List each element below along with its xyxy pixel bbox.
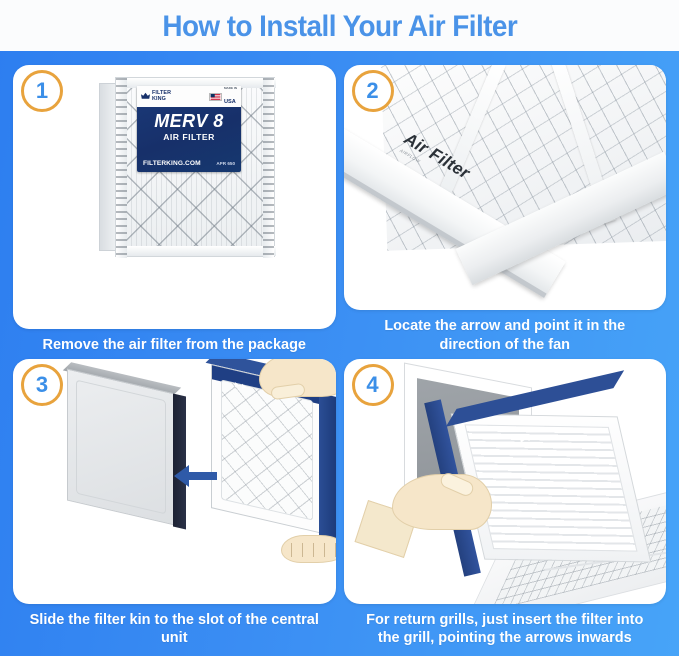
filter-navy-side-edge xyxy=(319,392,336,541)
filter-media-grid xyxy=(221,379,313,520)
step-4-illustration xyxy=(344,359,667,604)
made-in-label: MADE IN xyxy=(224,86,237,90)
infographic-root: How to Install Your Air Filter 1 xyxy=(0,0,679,656)
header-band: How to Install Your Air Filter xyxy=(0,0,679,51)
step-card-4: 4 xyxy=(344,359,667,651)
made-in-usa-text: MADE IN USA xyxy=(224,86,237,108)
brand-line-2: KING xyxy=(152,96,166,102)
insert-direction-arrow-icon xyxy=(173,463,217,489)
step-4-number-badge: 4 xyxy=(352,364,394,406)
step-3-illustration xyxy=(13,359,336,604)
label-footer-strip: FILTERKING.COM APR 650 xyxy=(137,160,241,167)
product-type: AIR FILTER xyxy=(137,132,241,142)
apr-rating-text: APR 650 xyxy=(216,161,235,166)
filter-king-logo: FILTER KING xyxy=(141,91,171,102)
filter-frame-right xyxy=(263,78,274,258)
brand-name: FILTER KING xyxy=(152,91,171,102)
merv-rating: MERV 8 xyxy=(137,112,241,130)
product-label: FILTER KING xyxy=(137,86,241,172)
central-unit-slot-outline xyxy=(76,379,166,514)
crown-icon xyxy=(141,92,150,101)
step-4-caption: For return grills, just insert the filte… xyxy=(344,604,667,650)
country-label: USA xyxy=(224,99,236,105)
steps-grid: 1 xyxy=(0,51,679,656)
step-3-number-badge: 3 xyxy=(21,364,63,406)
step-card-2: 2 Air Filter AIRFLOW xyxy=(344,65,667,357)
made-in-usa-badge: MADE IN USA xyxy=(209,86,237,108)
step-2-image-card: 2 Air Filter AIRFLOW xyxy=(344,65,667,310)
air-filter-product-photo: FILTER KING xyxy=(99,77,275,257)
central-unit-slot-opening xyxy=(173,393,186,529)
step-1-image-card: 1 xyxy=(13,65,336,329)
step-3-image-card: 3 xyxy=(13,359,336,604)
label-header-strip: FILTER KING xyxy=(137,86,241,107)
hand-lower-fingers xyxy=(291,543,336,557)
step-1-number-badge: 1 xyxy=(21,70,63,112)
usa-flag-icon xyxy=(209,93,222,101)
filter-frame-bottom xyxy=(116,246,276,256)
filter-frame-left xyxy=(116,78,127,258)
website-text: FILTERKING.COM xyxy=(143,160,201,167)
grill-louvers xyxy=(464,424,637,551)
step-card-3: 3 xyxy=(13,359,336,651)
step-1-caption: Remove the air filter from the package xyxy=(13,329,336,357)
step-2-illustration: Air Filter AIRFLOW xyxy=(344,65,667,310)
central-unit-face xyxy=(67,368,175,525)
page-title: How to Install Your Air Filter xyxy=(162,10,517,42)
step-1-illustration: FILTER KING xyxy=(13,65,336,329)
step-card-1: 1 xyxy=(13,65,336,357)
step-2-number-badge: 2 xyxy=(352,70,394,112)
step-4-image-card: 4 xyxy=(344,359,667,604)
filter-front-face: FILTER KING xyxy=(115,77,275,257)
step-2-caption: Locate the arrow and point it in the dir… xyxy=(344,310,667,356)
step-3-caption: Slide the filter kin to the slot of the … xyxy=(13,604,336,650)
